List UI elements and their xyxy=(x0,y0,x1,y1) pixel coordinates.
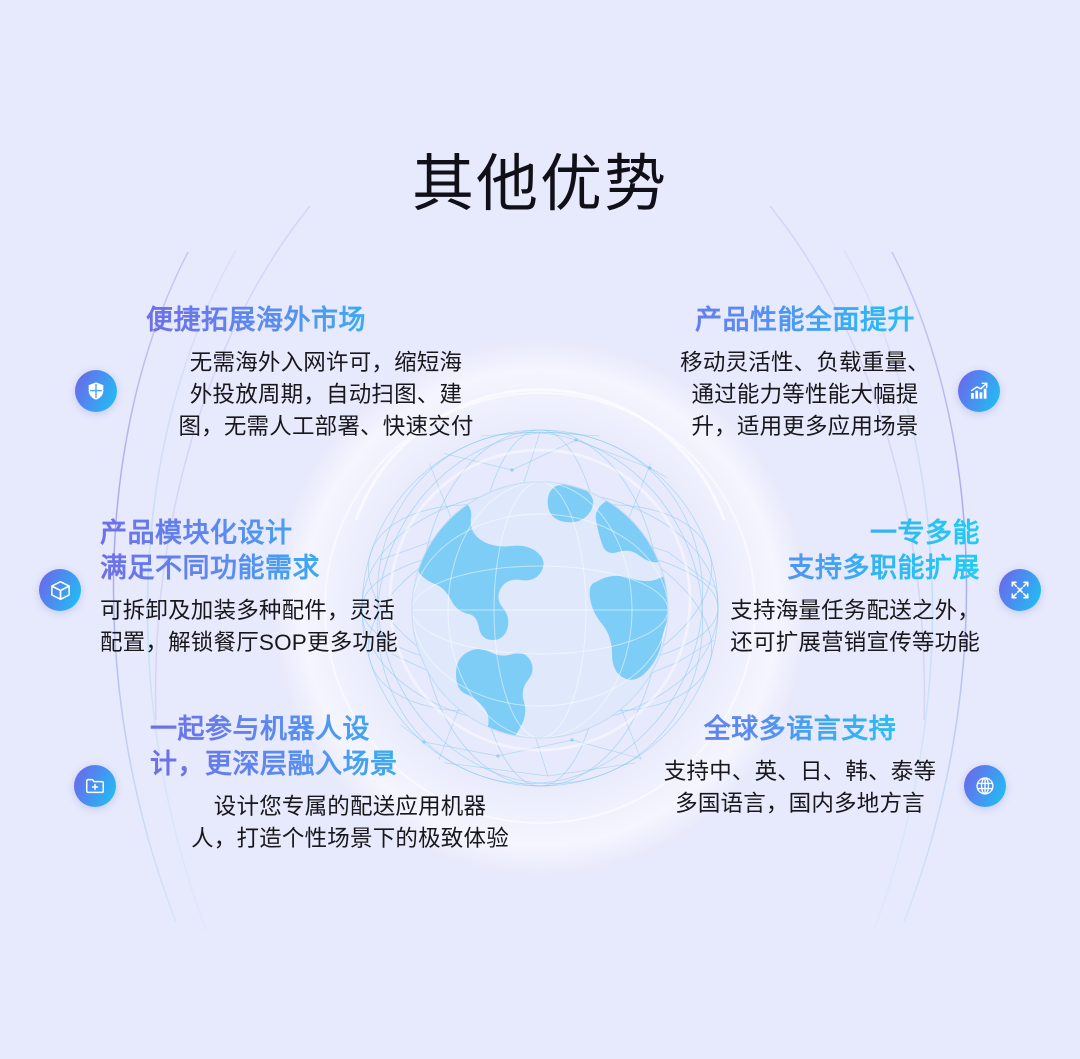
shield-icon xyxy=(85,380,107,402)
globe-icon xyxy=(974,775,996,797)
page-title: 其他优势 xyxy=(0,150,1080,220)
expand-arrows-icon xyxy=(1009,579,1031,601)
badge-modular-design[interactable] xyxy=(39,569,81,611)
growth-chart-icon xyxy=(968,380,990,402)
cube-icon xyxy=(49,579,72,602)
feature-overseas-market: 便捷拓展海外市场 无需海外入网许可，缩短海 外投放周期，自动扫图、建 图，无需人… xyxy=(146,303,506,443)
feature-modular-design: 产品模块化设计 满足不同功能需求 可拆卸及加装多种配件，灵活 配置，解锁餐厅SO… xyxy=(100,516,470,659)
badge-codesign[interactable] xyxy=(74,765,116,807)
feature-codesign: 一起参与机器人设 计，更深层融入场景 设计您专属的配送应用机器 人，打造个性场景… xyxy=(150,712,550,855)
badge-overseas-market[interactable] xyxy=(75,370,117,412)
feature-body: 无需海外入网许可，缩短海 外投放周期，自动扫图、建 图，无需人工部署、快速交付 xyxy=(146,347,506,443)
advantages-infographic: 其他优势 便捷拓展海外市场 无需海外入网许可，缩短海 外投放周期，自动扫图、建 … xyxy=(0,0,1080,1059)
feature-body: 可拆卸及加装多种配件，灵活 配置，解锁餐厅SOP更多功能 xyxy=(100,595,470,659)
feature-title: 产品性能全面提升 xyxy=(630,303,980,338)
feature-body: 支持海量任务配送之外， 还可扩展营销宣传等功能 xyxy=(650,595,980,659)
feature-title: 全球多语言支持 xyxy=(630,712,970,747)
feature-body: 移动灵活性、负载重量、 通过能力等性能大幅提 升，适用更多应用场景 xyxy=(630,347,980,443)
feature-product-performance: 产品性能全面提升 移动灵活性、负载重量、 通过能力等性能大幅提 升，适用更多应用… xyxy=(630,303,980,443)
feature-title: 便捷拓展海外市场 xyxy=(146,303,506,338)
feature-body: 支持中、英、日、韩、泰等 多国语言，国内多地方言 xyxy=(630,756,970,820)
badge-multilanguage[interactable] xyxy=(964,765,1006,807)
folder-plus-icon xyxy=(84,775,106,797)
badge-multifunction[interactable] xyxy=(999,569,1041,611)
feature-title: 产品模块化设计 满足不同功能需求 xyxy=(100,516,470,586)
feature-multilanguage: 全球多语言支持 支持中、英、日、韩、泰等 多国语言，国内多地方言 xyxy=(630,712,970,820)
badge-product-performance[interactable] xyxy=(958,370,1000,412)
feature-multifunction: 一专多能 支持多职能扩展 支持海量任务配送之外， 还可扩展营销宣传等功能 xyxy=(650,516,980,659)
feature-title: 一专多能 支持多职能扩展 xyxy=(650,516,980,586)
feature-title: 一起参与机器人设 计，更深层融入场景 xyxy=(150,712,550,782)
feature-body: 设计您专属的配送应用机器 人，打造个性场景下的极致体验 xyxy=(150,791,550,855)
